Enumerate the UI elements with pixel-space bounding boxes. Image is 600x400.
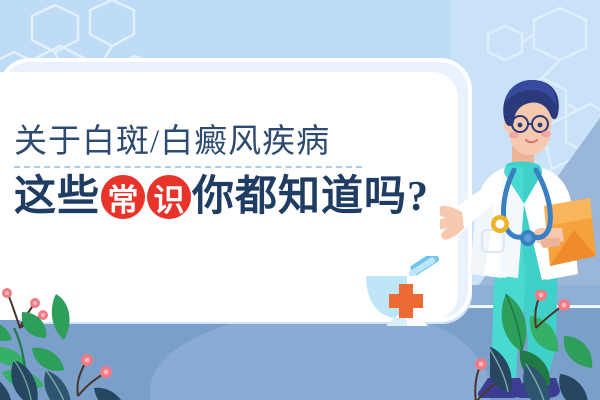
poster-canvas: 关于白斑/白癜风疾病 这些 常 识 你都知道吗? [0,0,600,400]
headline-divider [14,166,362,168]
headline-highlight-badge-2: 识 [147,175,191,219]
headline-highlight-badge-1: 常 [101,175,145,219]
headline-line-2: 这些 常 识 你都知道吗? [14,175,444,219]
plant-right-illustration [490,290,600,400]
plant-left-illustration [0,288,166,400]
headline-line-2-after: 你都知道吗? [192,176,429,218]
headline-block: 关于白斑/白癜风疾病 这些 常 识 你都知道吗? [14,124,444,219]
headline-line-1: 关于白斑/白癜风疾病 [14,124,444,160]
headline-line-2-before: 这些 [14,176,100,218]
